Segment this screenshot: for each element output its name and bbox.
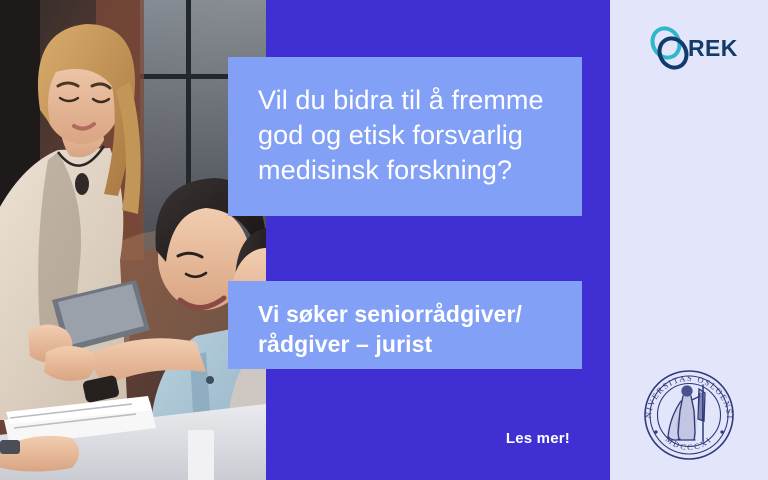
rek-wordmark: REK — [688, 35, 738, 62]
read-more-link[interactable]: Les mer! — [400, 430, 570, 447]
job-title-card: Vi søker seniorrådgiver/ rådgiver – juri… — [228, 281, 582, 369]
headline-card: Vil du bidra til å fremme god og etisk f… — [228, 57, 582, 216]
uio-seal: UNIVERSITAS OSLOENSIS MDCCCXI — [637, 363, 741, 467]
hero-photo-illustration — [0, 0, 266, 480]
uio-seal-graphic: UNIVERSITAS OSLOENSIS MDCCCXI — [637, 363, 741, 467]
job-title-text: Vi søker seniorrådgiver/ rådgiver – juri… — [258, 299, 552, 359]
interlocking-rings-icon — [650, 26, 692, 70]
headline-text: Vil du bidra til å fremme god og etisk f… — [258, 83, 552, 188]
rek-logo[interactable]: REK — [650, 26, 738, 70]
hero-photo — [0, 0, 266, 480]
recruitment-banner: Vil du bidra til å fremme god og etisk f… — [0, 0, 768, 480]
